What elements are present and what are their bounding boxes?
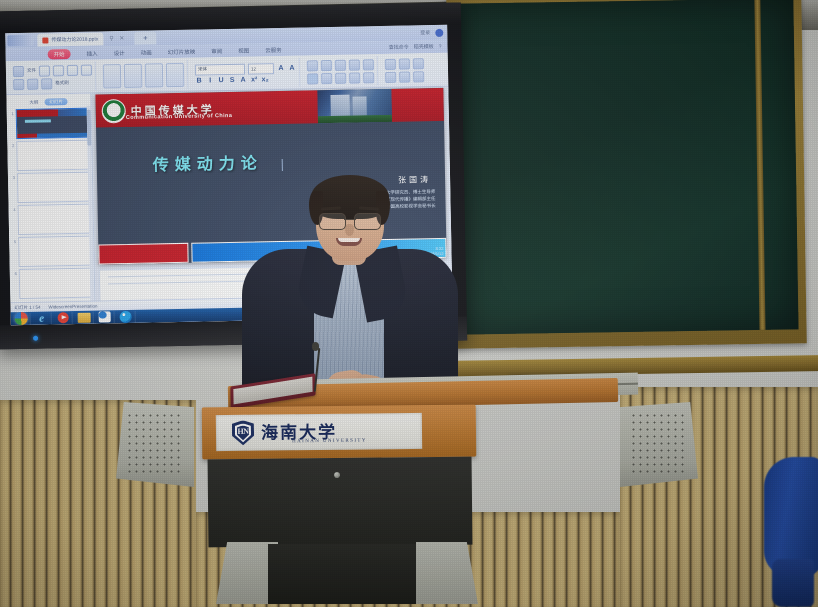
- file-explorer-icon[interactable]: [75, 311, 94, 323]
- wechat-icon[interactable]: [96, 311, 115, 323]
- strikethrough-button[interactable]: S: [228, 76, 236, 83]
- thumbnail-slide-3[interactable]: 3: [10, 172, 91, 204]
- teeth: [338, 238, 360, 242]
- thumbnail-number: 3: [10, 173, 16, 203]
- thumb-footer-band: [17, 133, 88, 138]
- search-command-label[interactable]: 查找命令: [389, 44, 409, 51]
- shape-fill-icon[interactable]: [385, 71, 396, 82]
- align-right-icon[interactable]: [335, 72, 346, 83]
- tab-insert[interactable]: 插入: [87, 49, 98, 57]
- line-spacing-icon[interactable]: [363, 59, 374, 70]
- ribbon-group-paragraph[interactable]: [304, 56, 379, 86]
- podium-speaker-left: [116, 402, 194, 487]
- media-player-icon[interactable]: [54, 312, 73, 324]
- shape-effects-icon[interactable]: [413, 71, 424, 82]
- text-direction-icon[interactable]: [363, 72, 374, 83]
- font-size-box[interactable]: 12: [248, 63, 274, 74]
- numbering-icon[interactable]: [321, 60, 332, 71]
- tab-design[interactable]: 设计: [114, 48, 125, 56]
- account-label[interactable]: 登录: [420, 29, 430, 36]
- print-icon[interactable]: [53, 65, 64, 76]
- tab-view[interactable]: 视图: [238, 46, 249, 54]
- microphone-icon: [312, 342, 319, 351]
- tab-home[interactable]: 开始: [48, 49, 71, 59]
- thumbnail-slide-1[interactable]: 1: [9, 108, 90, 140]
- tab-review[interactable]: 审阅: [211, 47, 222, 55]
- titlebar-right: 登录: [420, 28, 447, 37]
- thumbnail-slide-4[interactable]: 4: [11, 204, 92, 236]
- slide-header-band: 中国传媒大学 Communication University of China: [95, 88, 444, 128]
- thumb-title-slide: [17, 109, 89, 138]
- tab-animation[interactable]: 动画: [141, 48, 152, 56]
- thumbnail-slide-6[interactable]: 6: [12, 268, 93, 300]
- text-cursor: [282, 159, 283, 171]
- podium: HN 海南大学 HAINAN UNIVERSITY: [168, 392, 648, 607]
- cuc-emblem-icon: [101, 98, 125, 122]
- thumbnail-number: 6: [12, 269, 18, 299]
- font-color-button[interactable]: A: [239, 76, 247, 83]
- lens-right: [354, 213, 381, 230]
- tab-controls[interactable]: ⚲ ✕: [109, 35, 126, 42]
- thumb-title-text: [25, 119, 51, 122]
- bold-button[interactable]: B: [195, 77, 203, 84]
- increase-indent-icon[interactable]: [349, 59, 360, 70]
- campus-building-2: [353, 97, 367, 116]
- redo-icon[interactable]: [81, 64, 92, 75]
- thumbnail-preview[interactable]: [19, 268, 93, 299]
- slide-band-tail: [391, 88, 444, 122]
- cut-icon[interactable]: [27, 78, 38, 89]
- thumbnail-number: 2: [9, 141, 15, 171]
- university-nameplate: HN 海南大学 HAINAN UNIVERSITY: [216, 413, 422, 451]
- pptx-file-icon: [42, 37, 48, 43]
- grow-font-icon[interactable]: A: [277, 64, 285, 71]
- layout-icon[interactable]: [145, 63, 163, 87]
- power-led: [33, 336, 38, 341]
- chalkboard-assembly: [449, 0, 818, 372]
- slide-title: 传媒动力论: [153, 149, 263, 175]
- thumbnail-preview[interactable]: [16, 140, 90, 171]
- underline-button[interactable]: U: [217, 77, 225, 84]
- thumbnail-preview[interactable]: [17, 172, 91, 203]
- ribbon-search-area[interactable]: 查找命令 稻壳模板 ?: [389, 43, 448, 51]
- section-icon[interactable]: [166, 62, 184, 86]
- layout-name: WidescreenPresentation: [48, 304, 97, 310]
- paste-icon[interactable]: [13, 78, 24, 89]
- blue-chair-leg: [772, 559, 814, 607]
- thumbnail-tabs[interactable]: 大纲 幻灯片: [8, 97, 88, 108]
- campus-lawn: [318, 115, 392, 124]
- sogou-browser-icon[interactable]: [117, 310, 136, 322]
- podium-base-right: [416, 542, 478, 604]
- arrange-icon[interactable]: [399, 58, 410, 69]
- start-button[interactable]: [12, 312, 31, 324]
- chalkboard-surface: [454, 0, 798, 335]
- thumbnail-number: 4: [11, 205, 17, 235]
- slide-branding-block: 中国传媒大学 Communication University of China: [95, 90, 317, 127]
- copy-icon[interactable]: [41, 78, 52, 89]
- new-slide-icon[interactable]: [124, 63, 142, 87]
- shape-outline-icon[interactable]: [399, 71, 410, 82]
- slide-thumbnail-panel[interactable]: 大纲 幻灯片 1 2: [6, 94, 95, 326]
- glasses-bridge: [344, 219, 356, 220]
- tab-outline[interactable]: 大纲: [29, 99, 38, 105]
- font-family-box[interactable]: 宋体: [195, 63, 245, 75]
- campus-photo: [317, 89, 392, 123]
- save-icon[interactable]: [39, 65, 50, 76]
- quick-styles-icon[interactable]: [413, 58, 424, 69]
- from-beginning-icon[interactable]: [103, 64, 121, 88]
- shapes-icon[interactable]: [385, 58, 396, 69]
- bullets-icon[interactable]: [307, 60, 318, 71]
- nameplate-en: HAINAN UNIVERSITY: [292, 438, 367, 444]
- undo-icon[interactable]: [67, 64, 78, 75]
- thumbnail-slide-2[interactable]: 2: [9, 140, 90, 172]
- university-name-en: Communication University of China: [126, 113, 233, 121]
- new-tab-button[interactable]: +: [134, 31, 156, 44]
- thumbnail-number: 1: [9, 109, 15, 139]
- presenter: [240, 175, 460, 405]
- podium-base-center: [268, 544, 418, 604]
- thumbnail-slide-5[interactable]: 5: [11, 236, 92, 268]
- thumbnail-preview[interactable]: [16, 108, 90, 139]
- podium-cabinet: [208, 457, 473, 548]
- photo-scene: 传媒动力论2018.pptx ⚲ ✕ + 登录 开始 插入 设计 动画 幻灯片放…: [0, 0, 818, 607]
- podium-speaker-right: [620, 402, 698, 487]
- ribbon-group-file[interactable]: 文件 格式刷: [10, 62, 97, 93]
- template-store-label[interactable]: 稻壳模板: [414, 43, 434, 50]
- nose: [345, 224, 354, 236]
- thumbnail-preview[interactable]: [18, 204, 92, 235]
- lens-left: [319, 213, 346, 230]
- justify-icon[interactable]: [349, 72, 360, 83]
- ribbon-group-drawing[interactable]: [382, 55, 428, 85]
- campus-building: [331, 94, 351, 116]
- ribbon-group-font[interactable]: 宋体 12 A A B I U S A x² x₂: [192, 58, 301, 89]
- subscript-button[interactable]: x₂: [261, 76, 269, 83]
- cabinet-lock-icon: [334, 472, 340, 478]
- speaker-grille-left: [126, 412, 182, 476]
- align-left-icon[interactable]: [307, 73, 318, 84]
- tab-slideshow[interactable]: 幻灯片放映: [168, 47, 196, 56]
- decrease-indent-icon[interactable]: [335, 59, 346, 70]
- avatar[interactable]: [435, 28, 443, 36]
- superscript-button[interactable]: x²: [250, 76, 258, 83]
- help-icon[interactable]: ?: [439, 43, 442, 49]
- shrink-font-icon[interactable]: A: [288, 64, 296, 71]
- shield-mark: HN: [232, 420, 254, 445]
- slide-counter: 幻灯片 1 / 54: [14, 304, 40, 310]
- format-painter-label[interactable]: 格式刷: [55, 80, 69, 86]
- file-tab[interactable]: 传媒动力论2018.pptx: [37, 32, 103, 46]
- speaker-grille-right: [630, 412, 686, 476]
- ribbon-group-slides[interactable]: [100, 60, 189, 91]
- chalkboard-frame: [446, 0, 806, 349]
- wps-logo-icon: [7, 35, 33, 46]
- thumbnail-number: 5: [11, 237, 17, 267]
- italic-button[interactable]: I: [206, 77, 214, 84]
- thumbnail-preview[interactable]: [18, 236, 92, 267]
- file-menu-label[interactable]: 文件: [27, 68, 36, 74]
- internet-explorer-icon[interactable]: e: [33, 312, 52, 324]
- file-tab-name: 传媒动力论2018.pptx: [51, 35, 98, 43]
- file-menu-icon[interactable]: [13, 65, 24, 76]
- align-center-icon[interactable]: [321, 73, 332, 84]
- hainan-university-shield-icon: HN: [232, 420, 254, 445]
- tab-cloud[interactable]: 云服务: [265, 45, 282, 53]
- thumb-header-band: [17, 109, 88, 117]
- footer-red-block: [98, 243, 189, 265]
- tab-slides[interactable]: 幻灯片: [44, 98, 68, 105]
